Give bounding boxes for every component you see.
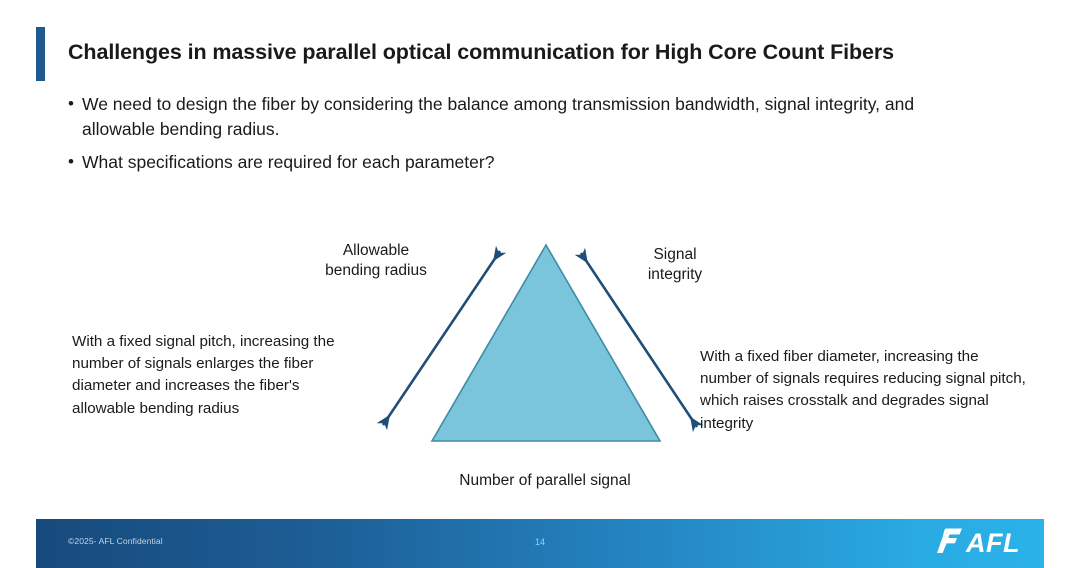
bullet-marker-icon: • [68,150,82,174]
label-signal-integrity: Signal integrity [624,245,726,286]
title-accent-bar [36,27,45,81]
note-right-fiber-diameter: With a fixed fiber diameter, increasing … [700,346,1032,435]
bullet-marker-icon: • [68,92,82,116]
bullet-list: • We need to design the fiber by conside… [68,92,968,184]
list-item: • We need to design the fiber by conside… [68,92,968,141]
footer-page-number: 14 [36,537,1044,547]
list-item: • What specifications are required for e… [68,150,968,175]
afl-logo-wordmark: AFL [966,530,1020,557]
afl-logo-mark-icon [937,527,963,559]
page-title: Challenges in massive parallel optical c… [68,40,1028,66]
label-line-2: bending radius [300,261,452,281]
label-line-1: Signal [624,245,726,265]
bullet-text: What specifications are required for eac… [82,150,968,175]
label-line-1: Allowable [300,241,452,261]
slide-footer: ©2025- AFL Confidential 14 AFL [36,519,1044,568]
slide-canvas: Challenges in massive parallel optical c… [0,0,1080,568]
afl-logo: AFL [937,527,1020,559]
label-line-2: integrity [624,265,726,285]
bullet-text: We need to design the fiber by consideri… [82,92,968,141]
label-allowable-bending-radius: Allowable bending radius [300,241,452,282]
note-left-signal-pitch: With a fixed signal pitch, increasing th… [72,331,364,420]
label-number-of-parallel-signal: Number of parallel signal [430,471,660,491]
